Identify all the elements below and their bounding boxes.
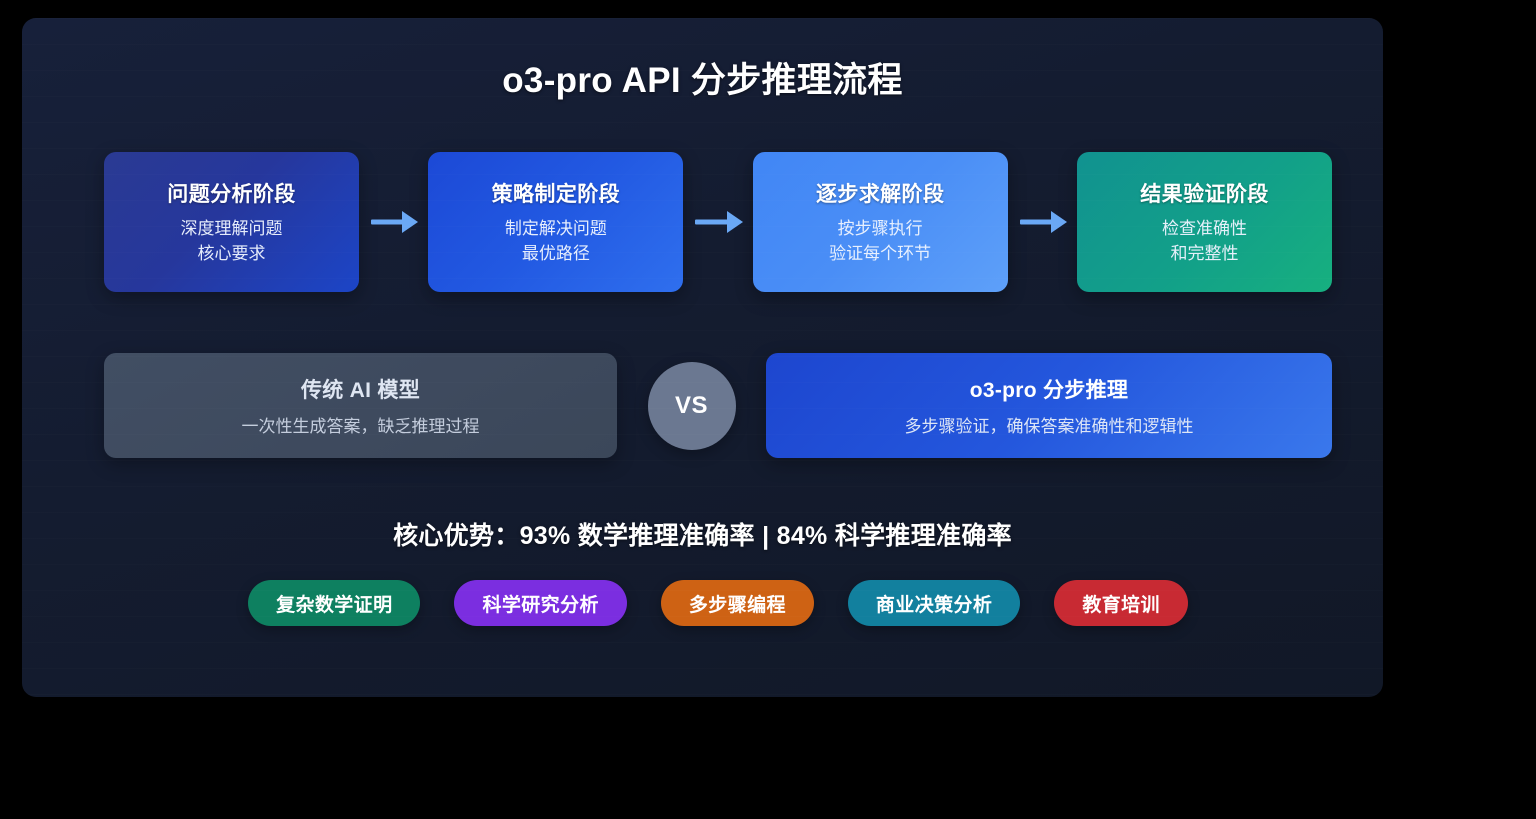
arrow-head [1051,211,1067,233]
flow-step-card-3[interactable]: 逐步求解阶段 按步骤执行 验证每个环节 [753,152,1008,292]
comparison-card-traditional[interactable]: 传统 AI 模型 一次性生成答案，缺乏推理过程 [104,353,617,458]
vs-badge: VS [648,362,736,450]
comparison-title: 传统 AI 模型 [301,374,420,404]
flow-diagram: 问题分析阶段 深度理解问题 核心要求 策略制定阶段 制定解决问题 最优路径 逐步… [104,152,1332,292]
flow-step-line-2: 最优路径 [522,242,590,266]
flow-step-line-1: 深度理解问题 [181,217,283,241]
screenshot-stage: o3-pro API 分步推理流程 问题分析阶段 深度理解问题 核心要求 策略制… [0,0,1536,819]
vs-badge-wrap: VS [617,362,766,450]
comparison-section: 传统 AI 模型 一次性生成答案，缺乏推理过程 VS o3-pro 分步推理 多… [104,353,1332,458]
comparison-subtitle: 多步骤验证，确保答案准确性和逻辑性 [905,412,1194,437]
tag-list: 复杂数学证明 科学研究分析 多步骤编程 商业决策分析 教育培训 [104,580,1332,626]
flow-step-line-2: 验证每个环节 [829,242,931,266]
flow-step-line-1: 检查准确性 [1162,217,1247,241]
flow-step-line-1: 制定解决问题 [505,217,607,241]
comparison-title: o3-pro 分步推理 [970,374,1128,404]
arrow-head [402,211,418,233]
flow-step-title: 逐步求解阶段 [816,178,944,208]
comparison-card-o3pro[interactable]: o3-pro 分步推理 多步骤验证，确保答案准确性和逻辑性 [766,353,1332,458]
flow-step-card-1[interactable]: 问题分析阶段 深度理解问题 核心要求 [104,152,359,292]
flow-step-title: 策略制定阶段 [492,178,620,208]
tag-scientific-research[interactable]: 科学研究分析 [454,580,626,626]
flow-step-line-2: 和完整性 [1170,242,1238,266]
tag-business-decision[interactable]: 商业决策分析 [848,580,1020,626]
flow-step-title: 结果验证阶段 [1140,178,1268,208]
flow-step-card-2[interactable]: 策略制定阶段 制定解决问题 最优路径 [428,152,683,292]
flow-step-line-2: 核心要求 [198,242,266,266]
tag-education-training[interactable]: 教育培训 [1054,580,1188,626]
flow-step-title: 问题分析阶段 [167,178,295,208]
flow-arrow-icon-3 [1008,210,1077,234]
comparison-subtitle: 一次性生成答案，缺乏推理过程 [242,412,480,437]
arrow-head [727,211,743,233]
flow-step-line-1: 按步骤执行 [838,217,923,241]
arrow-shaft [371,220,404,225]
page-title: o3-pro API 分步推理流程 [22,52,1383,103]
flow-arrow-icon-1 [359,210,428,234]
tag-multistep-programming[interactable]: 多步骤编程 [661,580,814,626]
stats-line: 核心优势：93% 数学推理准确率 | 84% 科学推理准确率 [22,516,1383,552]
arrow-shaft [1020,220,1053,225]
tag-complex-math-proof[interactable]: 复杂数学证明 [248,580,420,626]
infographic-panel: o3-pro API 分步推理流程 问题分析阶段 深度理解问题 核心要求 策略制… [22,18,1383,697]
flow-step-card-4[interactable]: 结果验证阶段 检查准确性 和完整性 [1077,152,1332,292]
flow-arrow-icon-2 [683,210,752,234]
arrow-shaft [695,220,728,225]
